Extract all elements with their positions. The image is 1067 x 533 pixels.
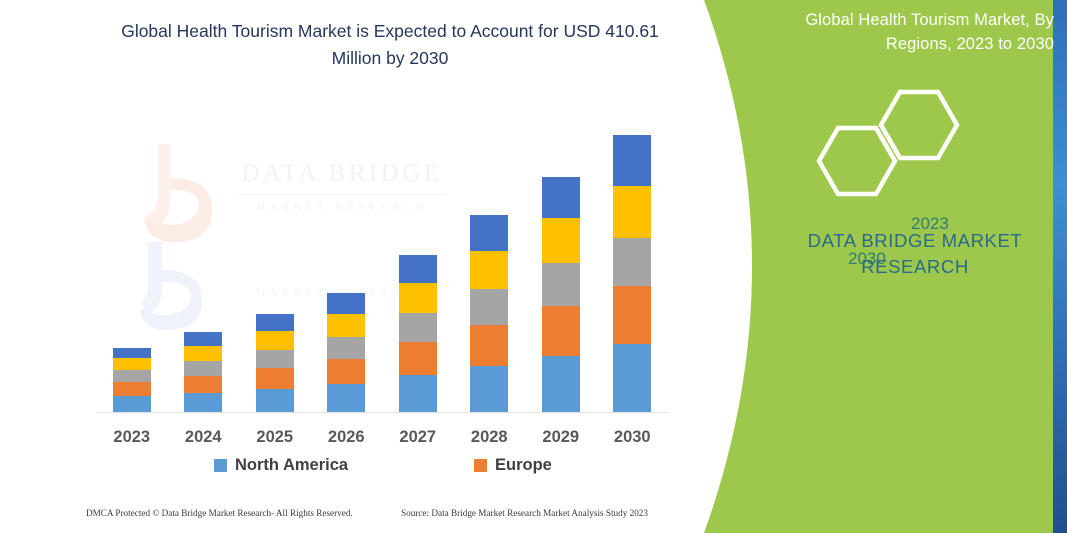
- infographic-root: Global Health Tourism Market is Expected…: [0, 0, 1067, 533]
- legend-swatch-north-america: [214, 459, 227, 472]
- bar-segment-europe: [256, 368, 294, 389]
- legend-item-north-america[interactable]: North America: [214, 456, 348, 475]
- bar-segment-series-5: [399, 255, 437, 283]
- chart-legend: North America Europe: [96, 456, 668, 480]
- x-label-2024: 2024: [167, 428, 239, 447]
- x-label-2030: 2030: [596, 428, 668, 447]
- bar-2028[interactable]: [470, 215, 508, 412]
- bar-segment-series-5: [542, 177, 580, 218]
- bar-segment-north-america: [113, 396, 151, 412]
- hexagon-badges: 2023 2030: [690, 88, 1067, 200]
- x-label-2027: 2027: [382, 428, 454, 447]
- bar-segment-series-4: [113, 358, 151, 370]
- footer-source: Source: Data Bridge Market Research Mark…: [401, 508, 648, 518]
- footer: DMCA Protected © Data Bridge Market Rese…: [86, 508, 676, 524]
- bar-segment-europe: [613, 286, 651, 344]
- legend-label-north-america: North America: [235, 456, 348, 475]
- bar-segment-series-4: [256, 331, 294, 350]
- x-axis-line: [96, 412, 668, 413]
- bar-segment-series-3: [184, 361, 222, 376]
- bar-segment-series-4: [399, 283, 437, 313]
- bar-segment-europe: [399, 342, 437, 375]
- x-axis-labels: 20232024202520262027202820292030: [96, 428, 668, 454]
- panel-title: Global Health Tourism Market, By Regions…: [776, 8, 1054, 56]
- x-label-2025: 2025: [239, 428, 311, 447]
- bar-segment-series-4: [542, 218, 580, 263]
- bar-2030[interactable]: [613, 135, 651, 412]
- bar-segment-series-3: [256, 350, 294, 368]
- hexagon-2030-icon: [819, 128, 895, 194]
- bar-2024[interactable]: [184, 332, 222, 412]
- bar-segment-north-america: [327, 384, 365, 412]
- bar-segment-series-3: [327, 337, 365, 359]
- legend-swatch-europe: [474, 459, 487, 472]
- chart-area: Global Health Tourism Market is Expected…: [0, 0, 700, 533]
- bar-segment-europe: [327, 359, 365, 384]
- bar-segment-series-4: [327, 314, 365, 337]
- bar-segment-series-5: [613, 135, 651, 186]
- bar-group: [96, 110, 668, 412]
- x-label-2023: 2023: [96, 428, 168, 447]
- bar-2025[interactable]: [256, 314, 294, 412]
- bar-segment-north-america: [613, 344, 651, 412]
- bar-segment-europe: [113, 382, 151, 396]
- panel-brand-text: DATA BRIDGE MARKET RESEARCH: [790, 228, 1040, 280]
- bar-segment-series-5: [184, 332, 222, 346]
- bar-2023[interactable]: [113, 348, 151, 412]
- page-title: Global Health Tourism Market is Expected…: [110, 18, 670, 72]
- bar-segment-europe: [542, 306, 580, 356]
- bar-2027[interactable]: [399, 255, 437, 412]
- x-label-2029: 2029: [525, 428, 597, 447]
- x-label-2028: 2028: [453, 428, 525, 447]
- legend-label-europe: Europe: [495, 456, 552, 475]
- bar-segment-series-3: [113, 370, 151, 382]
- blue-accent-stripe: [1053, 0, 1067, 533]
- bar-segment-series-4: [470, 251, 508, 289]
- green-panel: Global Health Tourism Market, By Regions…: [690, 0, 1067, 533]
- bar-segment-north-america: [256, 389, 294, 412]
- bar-segment-series-3: [613, 238, 651, 286]
- bar-segment-europe: [184, 376, 222, 393]
- bar-segment-series-4: [613, 186, 651, 238]
- bar-segment-north-america: [470, 366, 508, 412]
- bar-segment-series-3: [470, 289, 508, 325]
- bar-segment-north-america: [542, 356, 580, 412]
- legend-item-europe[interactable]: Europe: [474, 456, 552, 475]
- bar-segment-series-3: [542, 263, 580, 306]
- bar-segment-series-3: [399, 313, 437, 342]
- bar-segment-north-america: [184, 393, 222, 412]
- footer-copyright: DMCA Protected © Data Bridge Market Rese…: [86, 508, 353, 518]
- x-label-2026: 2026: [310, 428, 382, 447]
- bar-segment-series-5: [470, 215, 508, 251]
- bar-segment-europe: [470, 325, 508, 366]
- bar-2029[interactable]: [542, 177, 580, 412]
- bar-segment-series-5: [256, 314, 294, 331]
- hexagon-2023-icon: [881, 92, 957, 158]
- bar-segment-north-america: [399, 375, 437, 412]
- bar-segment-series-5: [327, 293, 365, 314]
- bar-2026[interactable]: [327, 293, 365, 412]
- bar-segment-series-5: [113, 348, 151, 358]
- bar-segment-series-4: [184, 346, 222, 361]
- hexagon-outlines-icon: [690, 88, 1067, 200]
